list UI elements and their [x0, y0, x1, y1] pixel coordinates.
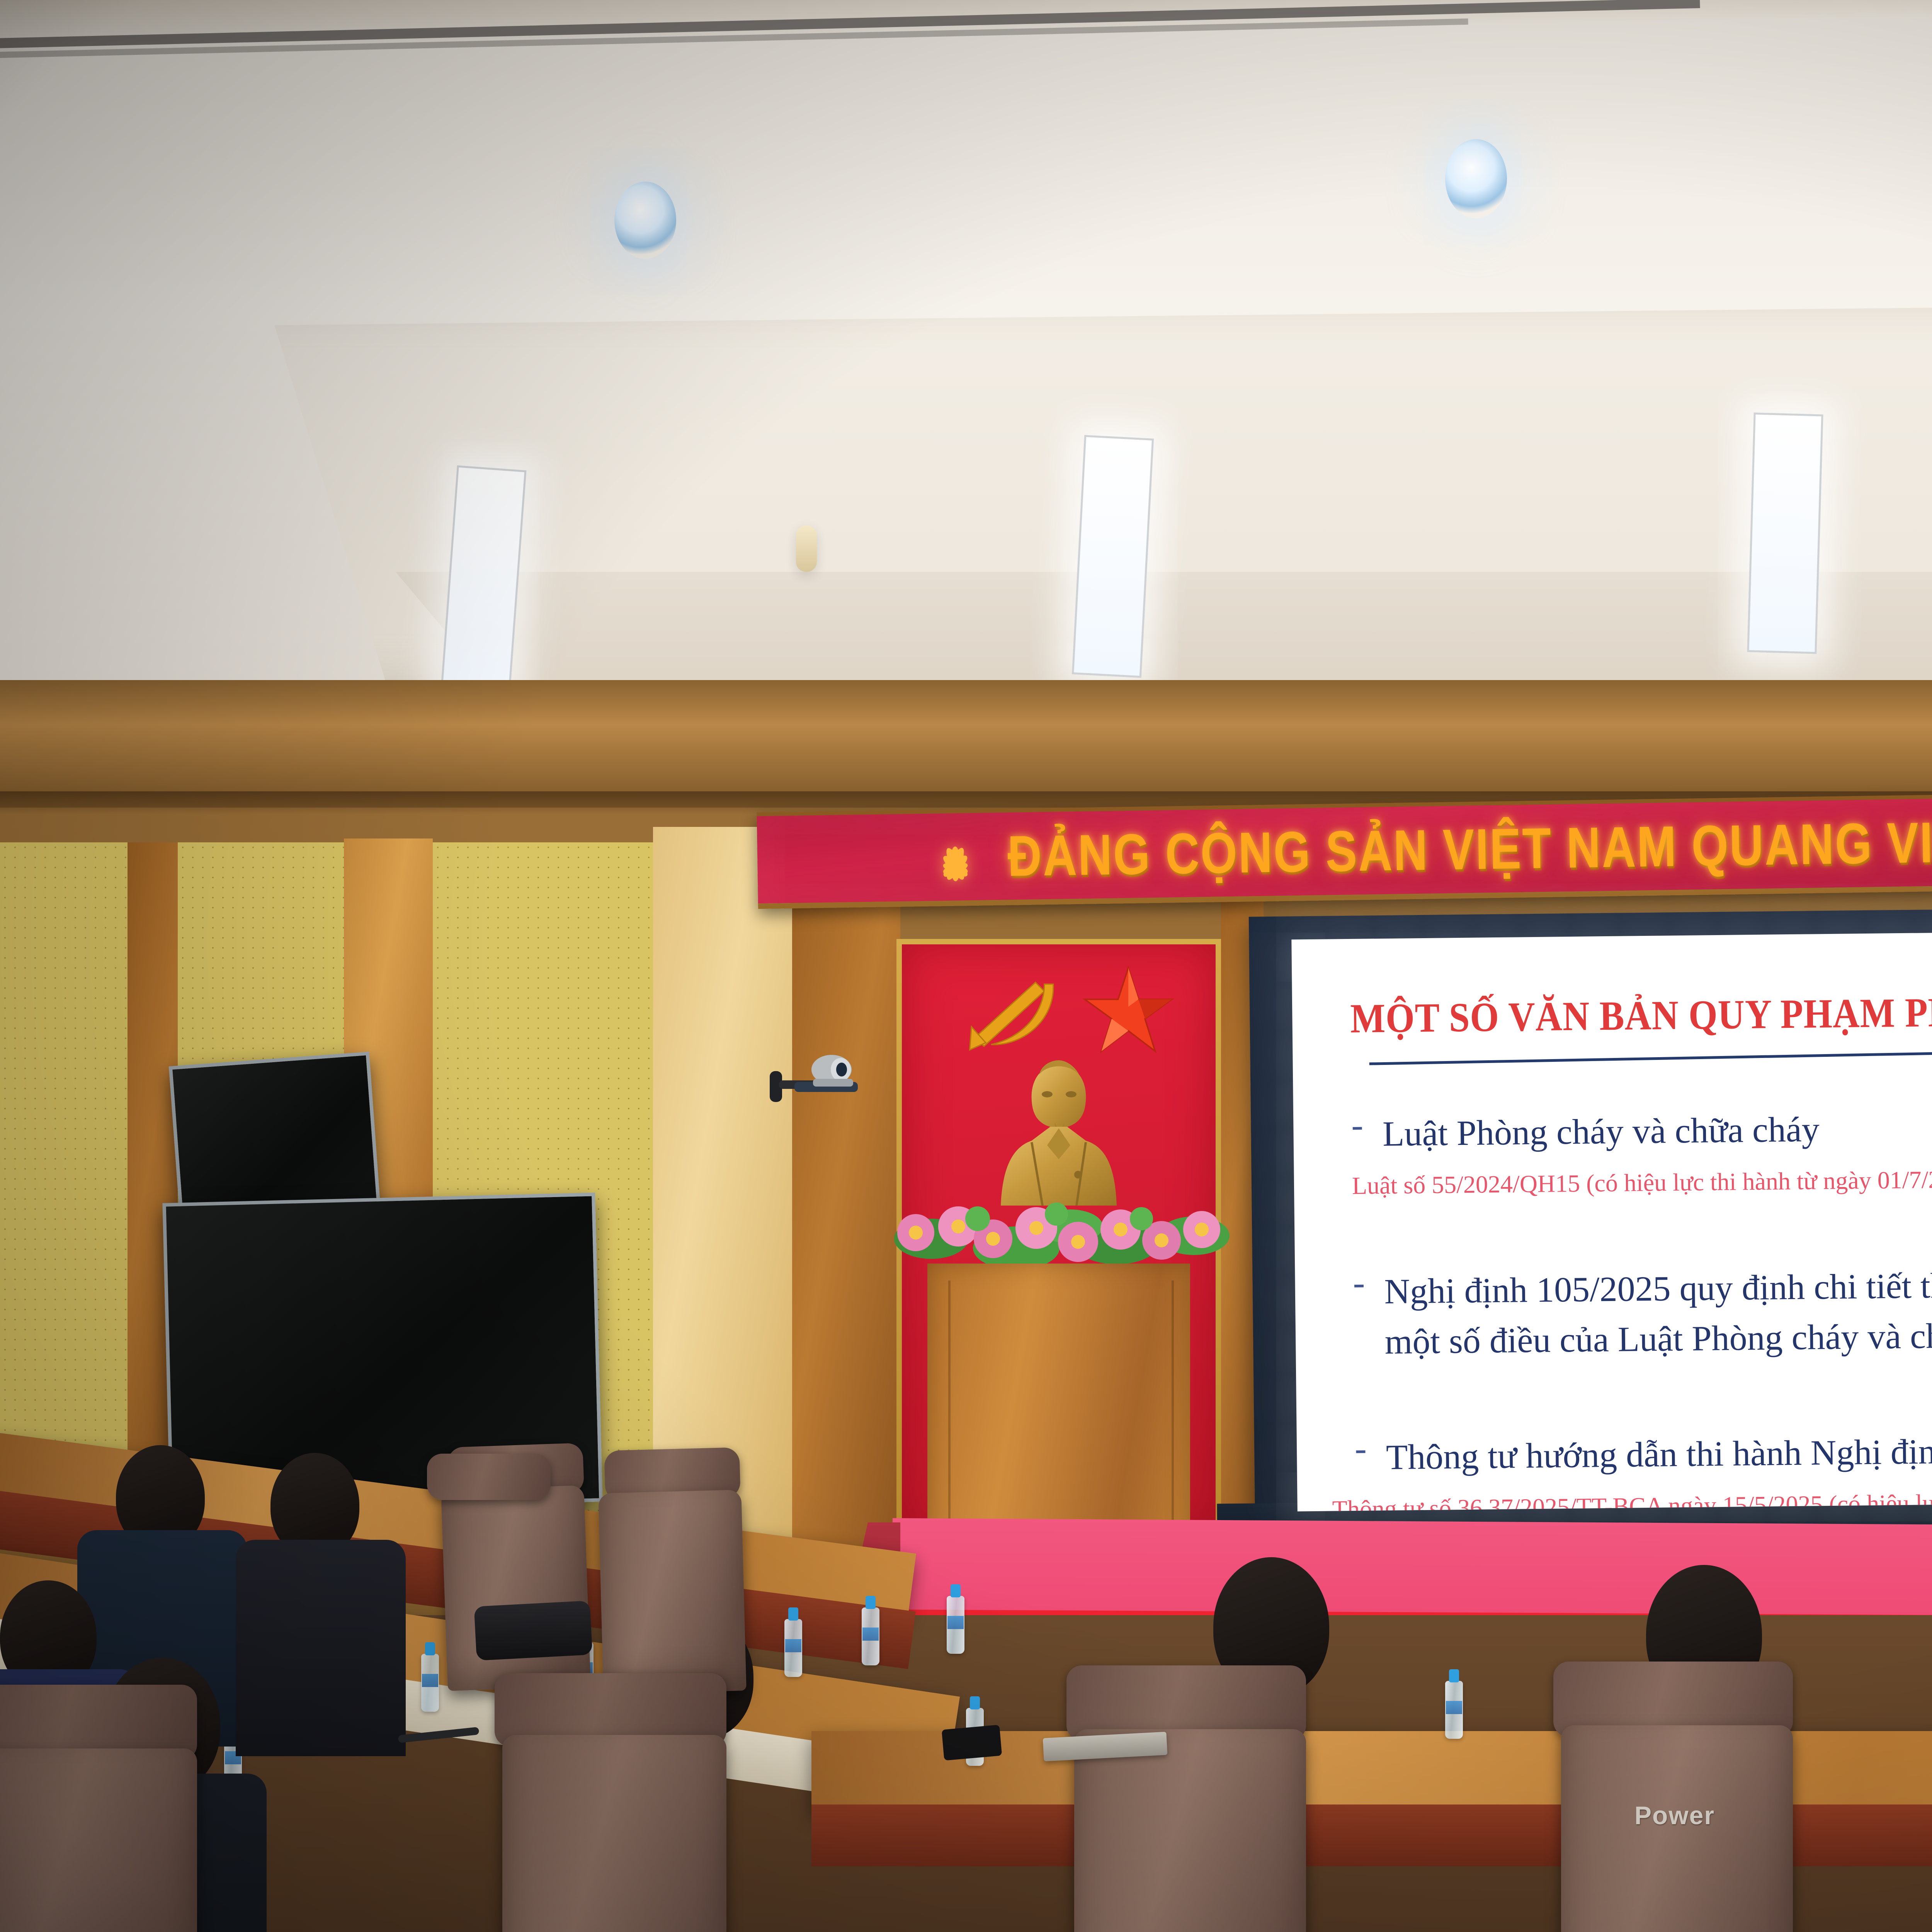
bullet-sub-text: Luật số 55/2024/QH15 (có hiệu lực thi hà… — [1352, 1162, 1932, 1201]
conference-hall-scene: ĐẢNG CỘNG SẢN VIỆT NAM QUANG VINH MUÔN N… — [0, 0, 1932, 1932]
chair-brand-label: Power — [1634, 1801, 1715, 1830]
slide-title: MỘT SỐ VĂN BẢN QUY PHẠM PHÁP LUẬT LIÊN Q… — [1350, 986, 1932, 1043]
bullet-marker: - — [1355, 1432, 1367, 1464]
red-star-icon — [1082, 966, 1175, 1055]
ceiling-spot-light — [614, 182, 676, 259]
water-bottle[interactable] — [862, 1607, 879, 1665]
bullet-marker: - — [1351, 1109, 1364, 1141]
chair-headrest — [427, 1454, 551, 1500]
slide-bullet-item: - Luật Phòng cháy và chữa cháy Luật số 5… — [1351, 1101, 1932, 1202]
slide-bullet-list: - Luật Phòng cháy và chữa cháy Luật số 5… — [1351, 1101, 1932, 1512]
lotus-ornament-icon — [926, 828, 985, 886]
slide-title-underline — [1369, 1049, 1932, 1065]
bust-pedestal — [927, 1264, 1190, 1549]
water-bottle[interactable] — [1445, 1681, 1463, 1739]
presentation-slide: MỘT SỐ VĂN BẢN QUY PHẠM PHÁP LUẬT LIÊN Q… — [1291, 931, 1932, 1512]
upper-wood-trim — [0, 680, 1932, 808]
ceiling-downlight — [796, 526, 817, 572]
wood-wall-panel — [792, 831, 900, 1553]
attendee-body — [236, 1540, 406, 1756]
slide-bullet-item: - Thông tư hướng dẫn thi hành Nghị định … — [1355, 1425, 1932, 1512]
bullet-main-text: Nghị định 105/2025 quy định chi tiết thi… — [1384, 1259, 1932, 1367]
ceiling-panel-light — [1072, 435, 1154, 678]
chair[interactable] — [0, 1748, 197, 1932]
water-bottle[interactable] — [421, 1654, 439, 1712]
chair[interactable] — [1074, 1729, 1306, 1932]
projection-screen[interactable]: MỘT SỐ VĂN BẢN QUY PHẠM PHÁP LUẬT LIÊN Q… — [1291, 931, 1932, 1512]
conference-camera-icon — [765, 1043, 862, 1121]
banner-slogan-text: ĐẢNG CỘNG SẢN VIỆT NAM QUANG VINH MUÔN N… — [1007, 804, 1932, 889]
hammer-and-sickle-icon — [954, 970, 1070, 1059]
desk-bag[interactable] — [474, 1600, 593, 1661]
bullet-main-text: Thông tư hướng dẫn thi hành Nghị định 10… — [1386, 1425, 1932, 1483]
chair[interactable] — [502, 1735, 726, 1932]
ceiling-panel-light — [1747, 413, 1823, 654]
slide-bullet-item: - Nghị định 105/2025 quy định chi tiết t… — [1353, 1259, 1932, 1367]
desk-clip[interactable] — [942, 1725, 1002, 1761]
water-bottle[interactable] — [784, 1619, 802, 1677]
bullet-marker: - — [1353, 1266, 1365, 1298]
ceiling-spot-light — [1445, 139, 1507, 218]
wood-wall-panel — [653, 827, 792, 1549]
bullet-main-text: Luật Phòng cháy và chữa cháy — [1383, 1104, 1820, 1159]
water-bottle[interactable] — [947, 1596, 964, 1654]
chair[interactable] — [441, 1485, 591, 1691]
chair[interactable] — [598, 1490, 746, 1694]
